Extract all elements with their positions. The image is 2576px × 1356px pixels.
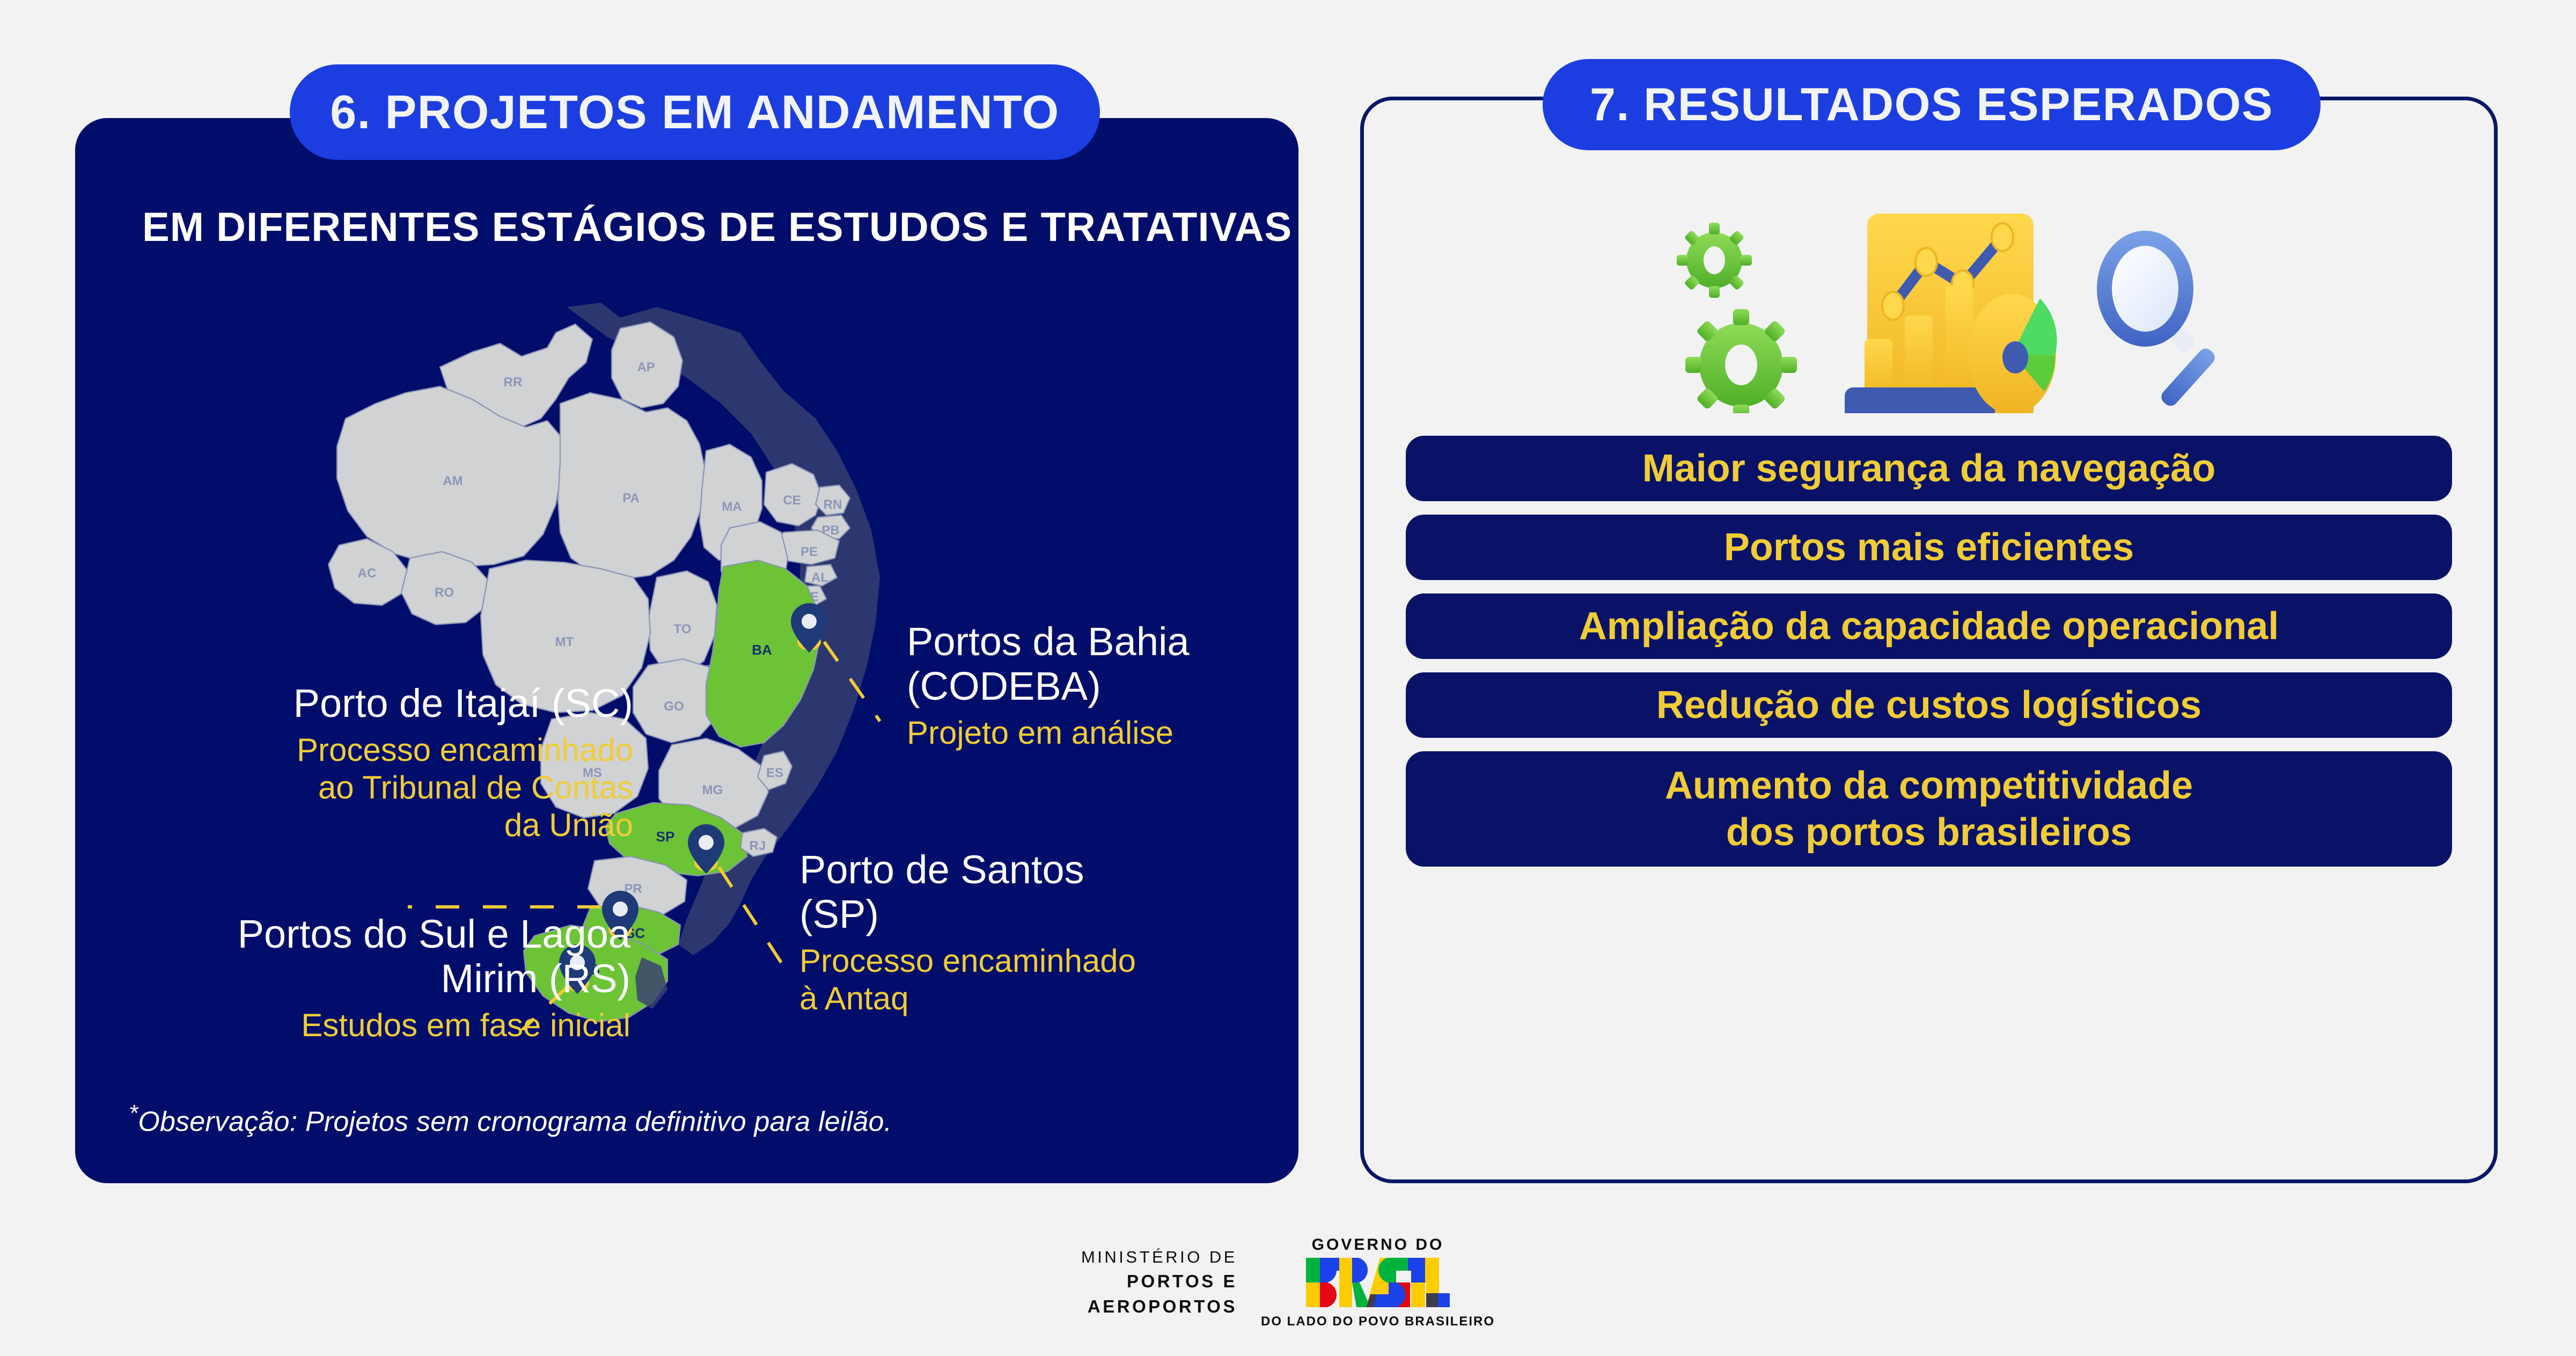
ministry-logo: MINISTÉRIO DE PORTOS E AEROPORTOS bbox=[1081, 1245, 1237, 1320]
result-box-2: Portos mais eficientes bbox=[1406, 515, 2452, 580]
state-label-rr: RR bbox=[504, 375, 523, 390]
callout-sul-title: Portos do Sul e Lagoa Mirim (RS) bbox=[115, 912, 630, 1001]
callout-sul-lagoa-mirim: Portos do Sul e Lagoa Mirim (RS) Estudos… bbox=[115, 912, 630, 1044]
result-box-4: Redução de custos logísticos bbox=[1406, 672, 2452, 738]
results-header-pill: 7. RESULTADOS ESPERADOS bbox=[1543, 59, 2321, 150]
state-pa bbox=[558, 393, 706, 580]
footnote-asterisk: * bbox=[129, 1100, 138, 1126]
state-label-ap: AP bbox=[637, 360, 655, 375]
results-icons-svg bbox=[1636, 199, 2227, 413]
callout-santos-title: Porto de Santos (SP) bbox=[799, 848, 1282, 937]
state-label-sp: SP bbox=[656, 829, 675, 845]
gov-logo-top-text: GOVERNO DO bbox=[1261, 1236, 1495, 1254]
state-label-go: GO bbox=[664, 699, 684, 714]
callout-bahia-codeba: Portos da Bahia (CODEBA) Projeto em anál… bbox=[907, 620, 1368, 752]
projects-header-pill: 6. PROJETOS EM ANDAMENTO bbox=[290, 64, 1100, 160]
projects-subtitle: EM DIFERENTES ESTÁGIOS DE ESTUDOS E TRAT… bbox=[142, 204, 1292, 251]
state-label-ac: AC bbox=[358, 566, 377, 581]
result-box-1: Maior segurança da navegação bbox=[1406, 436, 2452, 501]
footer: MINISTÉRIO DE PORTOS E AEROPORTOS GOVERN… bbox=[0, 1221, 2576, 1344]
infographic-canvas: 6. PROJETOS EM ANDAMENTO EM DIFERENTES E… bbox=[0, 0, 2576, 1356]
ministry-line-2: PORTOS E bbox=[1081, 1269, 1237, 1294]
gov-brasil-logo: GOVERNO DO bbox=[1261, 1236, 1495, 1329]
brasil-wordmark-icon bbox=[1306, 1257, 1450, 1308]
state-label-mt: MT bbox=[555, 635, 574, 649]
results-list: Maior segurança da navegação Portos mais… bbox=[1406, 436, 2452, 867]
footnote-text: Observação: Projetos sem cronograma defi… bbox=[138, 1106, 892, 1137]
state-label-ro: RO bbox=[435, 585, 454, 600]
state-label-ce: CE bbox=[783, 493, 801, 508]
state-label-pa: PA bbox=[622, 491, 640, 505]
state-label-ba: BA bbox=[752, 642, 772, 658]
callout-sul-status: Estudos em fase inicial bbox=[115, 1007, 630, 1044]
projects-footnote: *Observação: Projetos sem cronograma def… bbox=[129, 1100, 892, 1138]
callout-itajai: Porto de Itajaí (SC) Processo encaminhad… bbox=[129, 681, 633, 844]
state-label-ma: MA bbox=[722, 500, 742, 514]
ministry-line-3: AEROPORTOS bbox=[1081, 1294, 1237, 1320]
callout-bahia-title: Portos da Bahia (CODEBA) bbox=[907, 620, 1368, 709]
callout-itajai-status: Processo encaminhado ao Tribunal de Cont… bbox=[129, 731, 633, 845]
state-label-to: TO bbox=[674, 622, 692, 636]
callout-bahia-status: Projeto em análise bbox=[907, 714, 1368, 752]
callout-itajai-title: Porto de Itajaí (SC) bbox=[129, 681, 633, 726]
state-label-es: ES bbox=[766, 766, 783, 780]
state-label-am: AM bbox=[443, 474, 463, 488]
chart-base-icon bbox=[1845, 387, 1995, 413]
result-box-3: Ampliação da capacidade operacional bbox=[1406, 593, 2452, 659]
gov-logo-bottom-text: DO LADO DO POVO BRASILEIRO bbox=[1261, 1314, 1495, 1329]
magnifier-icon bbox=[2097, 231, 2218, 409]
callout-santos: Porto de Santos (SP) Processo encaminhad… bbox=[799, 848, 1282, 1017]
pie-chart-icon bbox=[1968, 294, 2057, 413]
state-label-rj: RJ bbox=[750, 839, 766, 853]
result-box-5: Aumento da competitividade dos portos br… bbox=[1406, 751, 2452, 867]
state-label-rn: RN bbox=[824, 497, 842, 512]
callout-santos-status: Processo encaminhado à Antaq bbox=[799, 942, 1282, 1017]
state-label-pe: PE bbox=[801, 545, 818, 559]
results-icon-cluster bbox=[1636, 199, 2227, 413]
ministry-line-1: MINISTÉRIO DE bbox=[1081, 1245, 1237, 1269]
state-label-al: AL bbox=[811, 570, 828, 585]
gear-tiny-icon bbox=[1677, 223, 1752, 298]
gear-small-icon bbox=[1685, 309, 1797, 413]
state-label-mg: MG bbox=[702, 783, 723, 797]
